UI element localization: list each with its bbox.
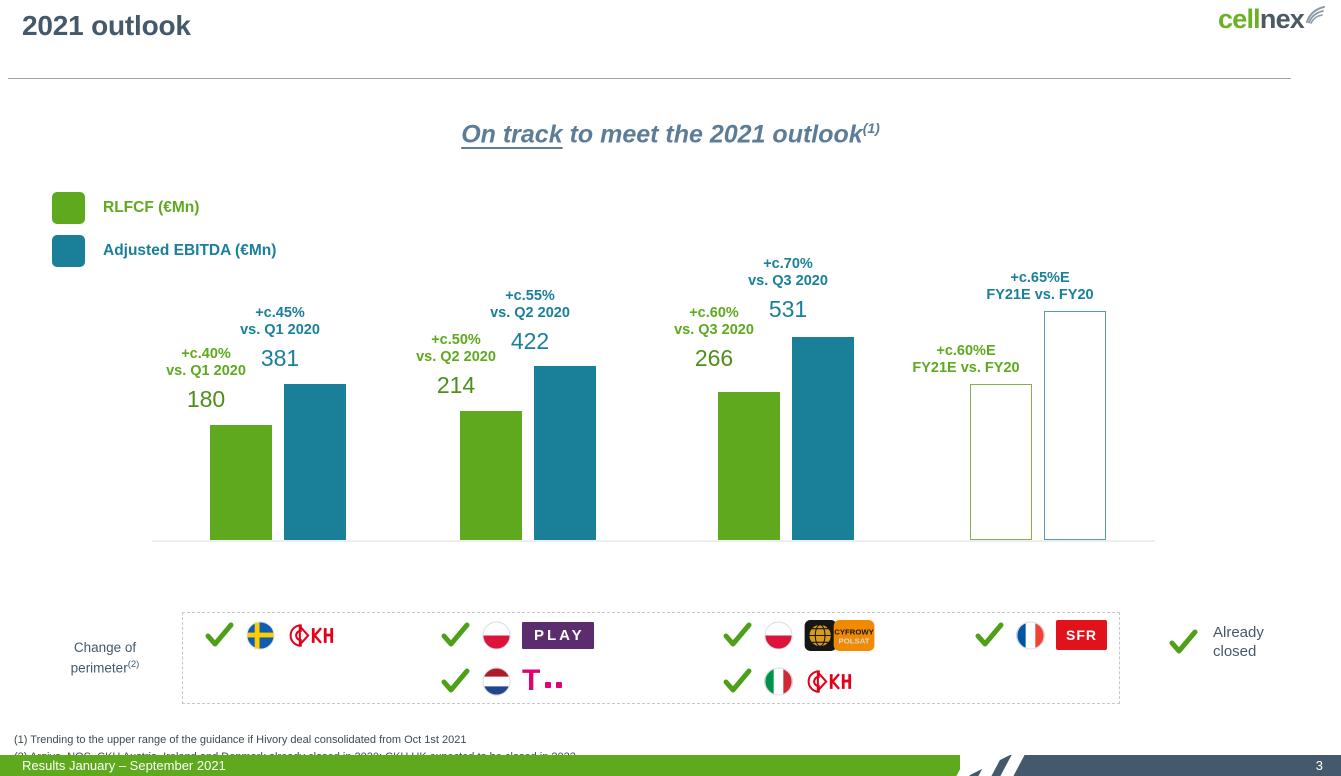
check-icon: [1168, 627, 1199, 658]
perimeter-row: [700, 658, 950, 704]
slide-footer: Results January – September 2021 3: [0, 755, 1341, 776]
perimeter-row: PLAY: [418, 612, 668, 658]
bar-annotation-q4-rlfcf: +c.60%E FY21E vs. FY20: [881, 343, 1051, 377]
bar-q2-rlfcf[interactable]: [460, 411, 522, 540]
tmobile-dot-icon: [556, 682, 562, 688]
perimeter-row: T: [418, 658, 668, 704]
netherlands-flag-icon: [482, 667, 511, 696]
bars-q3: +c.60% vs. Q3 2020 266 +c.70% vs. Q3 202…: [660, 255, 890, 540]
annotation-pct: +c.65%E: [955, 270, 1125, 287]
bar-annotation-q2-ebitda: +c.55% vs. Q2 2020 422: [445, 288, 615, 355]
bar-q1-ebitda[interactable]: [284, 384, 346, 540]
bars-q2: +c.50% vs. Q2 2020 214 +c.55% vs. Q2 202…: [402, 255, 632, 540]
play-logo: PLAY: [522, 622, 594, 649]
footer-page-number: 3: [1316, 758, 1323, 773]
tmobile-logo-text: T: [522, 668, 540, 694]
perimeter-row: CYFROWY POLSAT: [700, 612, 950, 658]
already-closed-group: Already closed: [1168, 624, 1264, 662]
annotation-value: 266: [629, 345, 799, 372]
check-icon: [440, 620, 471, 651]
annotation-value: 180: [121, 386, 291, 413]
slide-root: 2021 outlook cellnex On track to meet th…: [0, 0, 1341, 776]
annotation-pct: +c.55%: [445, 288, 615, 305]
check-icon: [974, 620, 1005, 651]
poland-flag-icon: [482, 621, 511, 650]
perimeter-column-q1: [182, 612, 432, 704]
bar-annotation-q1-ebitda: +c.45% vs. Q1 2020 381: [195, 305, 365, 372]
annotation-ref: vs. Q3 2020: [629, 322, 799, 339]
annotation-ref: vs. Q2 2020: [445, 305, 615, 322]
tmobile-dot-icon: [545, 682, 551, 688]
annotation-ref: vs. Q3 2020: [703, 273, 873, 290]
already-closed-label: Already closed: [1213, 624, 1264, 662]
bar-group-q4: +c.60%E FY21E vs. FY20 +c.65%E FY21E vs.…: [912, 255, 1142, 595]
bar-q4-ebitda-estimate[interactable]: [1044, 311, 1106, 540]
check-icon: [440, 666, 471, 697]
ckh-logo: [804, 668, 852, 695]
poland-flag-icon: [764, 621, 793, 650]
annotation-value: 381: [195, 345, 365, 372]
svg-text:CYFROWY: CYFROWY: [834, 627, 874, 636]
perimeter-column-q3: CYFROWY POLSAT: [700, 612, 950, 704]
bar-q4-rlfcf-estimate[interactable]: [970, 384, 1032, 540]
bar-q3-ebitda[interactable]: [792, 337, 854, 540]
sweden-flag-icon: [246, 621, 275, 650]
bar-annotation-q4-ebitda: +c.65%E FY21E vs. FY20: [955, 270, 1125, 304]
bar-annotation-q3-ebitda: +c.70% vs. Q3 2020 531: [703, 256, 873, 323]
annotation-pct: +c.70%: [703, 256, 873, 273]
perimeter-column-q2: PLAY T: [418, 612, 668, 704]
check-icon: [204, 620, 235, 651]
annotation-value: 214: [371, 372, 541, 399]
tmobile-logo: T: [522, 668, 562, 694]
bar-group-q3: +c.60% vs. Q3 2020 266 +c.70% vs. Q3 202…: [660, 255, 890, 595]
bar-group-q2: +c.50% vs. Q2 2020 214 +c.55% vs. Q2 202…: [402, 255, 632, 595]
perimeter-row: [182, 612, 432, 658]
bar-q3-rlfcf[interactable]: [718, 392, 780, 540]
annotation-ref: vs. Q1 2020: [195, 322, 365, 339]
perimeter-column-q4: SFR: [952, 612, 1202, 704]
bar-q2-ebitda[interactable]: [534, 366, 596, 540]
bars-q4: +c.60%E FY21E vs. FY20 +c.65%E FY21E vs.…: [912, 255, 1142, 540]
perimeter-label-sup: (2): [128, 659, 140, 670]
annotation-pct: +c.45%: [195, 305, 365, 322]
check-icon: [722, 620, 753, 651]
annotation-value: 422: [445, 328, 615, 355]
perimeter-row: SFR: [952, 612, 1202, 658]
bar-q1-rlfcf[interactable]: [210, 425, 272, 540]
france-flag-icon: [1016, 621, 1045, 650]
footnote-1: (1) Trending to the upper range of the g…: [14, 732, 576, 749]
bars-q1: +c.40% vs. Q1 2020 180 +c.45% vs. Q1 202…: [152, 255, 382, 540]
italy-flag-icon: [764, 667, 793, 696]
check-icon: [722, 666, 753, 697]
perimeter-label-line2: perimeter: [71, 660, 128, 675]
annotation-value: 531: [703, 296, 873, 323]
footer-title: Results January – September 2021: [22, 758, 226, 773]
annotation-pct: +c.60%E: [881, 343, 1051, 360]
play-logo-text: PLAY: [522, 622, 594, 649]
perimeter-label: Change of perimeter(2): [40, 638, 170, 678]
ckh-logo: [286, 622, 334, 649]
annotation-ref: FY21E vs. FY20: [955, 287, 1125, 304]
sfr-logo-text: SFR: [1056, 620, 1107, 650]
svg-text:POLSAT: POLSAT: [839, 636, 870, 645]
cyfrowy-polsat-logo: CYFROWY POLSAT: [804, 620, 875, 651]
annotation-ref: FY21E vs. FY20: [881, 360, 1051, 377]
bar-group-q1: +c.40% vs. Q1 2020 180 +c.45% vs. Q1 202…: [152, 255, 382, 595]
sfr-logo: SFR: [1056, 620, 1107, 650]
perimeter-label-line1: Change of: [74, 640, 136, 655]
